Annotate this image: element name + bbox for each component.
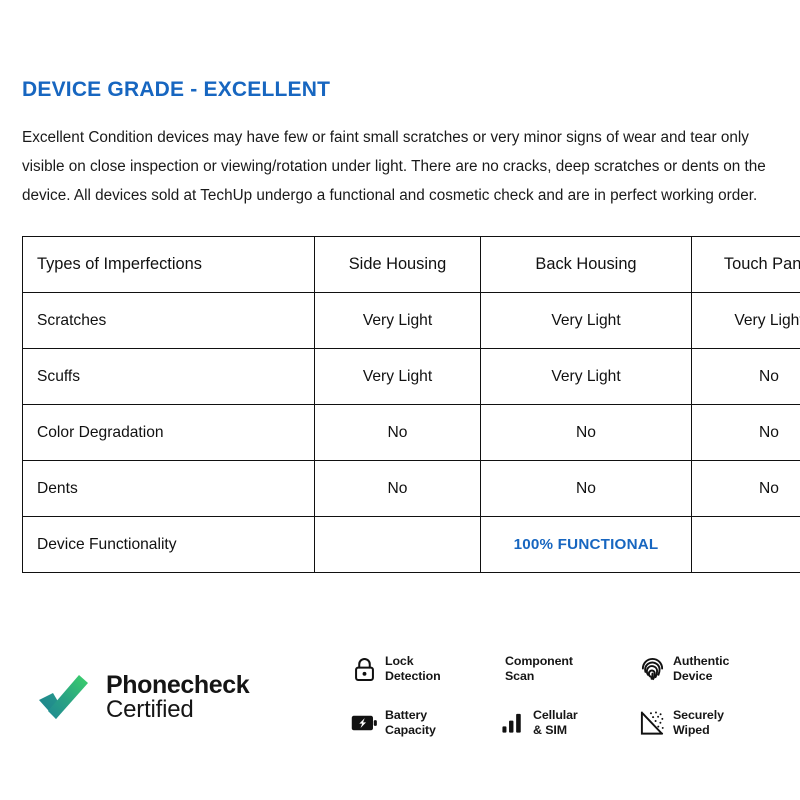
cell-functionality-touch-panel	[692, 517, 800, 573]
cell-scratches-touch-panel: Very Light	[692, 293, 800, 349]
cell-color-degradation-side-housing: No	[315, 405, 481, 461]
logo-name-line1: Phonecheck	[106, 672, 249, 698]
cell-scuffs-touch-panel: No	[692, 349, 800, 405]
cell-scuffs-side-housing: Very Light	[315, 349, 481, 405]
device-grade-page: DEVICE GRADE - EXCELLENT Excellent Condi…	[0, 0, 800, 800]
imperfections-table: Types of Imperfections Side Housing Back…	[22, 236, 800, 573]
checkmark-icon	[32, 666, 94, 728]
badge-label: Battery Capacity	[385, 708, 436, 738]
badge-authentic-device: Authentic Device	[638, 642, 774, 696]
table-header-row: Types of Imperfections Side Housing Back…	[23, 237, 800, 293]
cell-color-degradation-back-housing: No	[481, 405, 692, 461]
table-row: Color Degradation No No No	[23, 405, 800, 461]
badge-lock-detection: Lock Detection	[350, 642, 498, 696]
cell-scratches-back-housing: Very Light	[481, 293, 692, 349]
grade-description: Excellent Condition devices may have few…	[22, 101, 778, 210]
cell-scratches-side-housing: Very Light	[315, 293, 481, 349]
logo-wordmark: Phonecheck Certified	[106, 672, 249, 723]
header-side-housing: Side Housing	[315, 237, 481, 293]
badge-label: Securely Wiped	[673, 708, 724, 738]
row-label-device-functionality: Device Functionality	[23, 517, 315, 573]
cell-dents-side-housing: No	[315, 461, 481, 517]
lock-icon	[350, 654, 378, 684]
row-label-color-degradation: Color Degradation	[23, 405, 315, 461]
badge-battery-capacity: Battery Capacity	[350, 696, 498, 750]
badge-label: Cellular & SIM	[533, 708, 578, 738]
badge-label: Component Scan	[505, 654, 573, 684]
cell-functionality-side-housing	[315, 517, 481, 573]
table-row: Scratches Very Light Very Light Very Lig…	[23, 293, 800, 349]
phonecheck-certified-logo: Phonecheck Certified	[32, 666, 249, 728]
footer: Phonecheck Certified Lock Detection Comp…	[22, 638, 778, 778]
row-label-scratches: Scratches	[23, 293, 315, 349]
row-label-dents: Dents	[23, 461, 315, 517]
signal-bars-icon	[498, 708, 526, 738]
table-row: Scuffs Very Light Very Light No	[23, 349, 800, 405]
badge-securely-wiped: Securely Wiped	[638, 696, 774, 750]
cell-dents-back-housing: No	[481, 461, 692, 517]
header-touch-panel: Touch Panel	[692, 237, 800, 293]
cell-color-degradation-touch-panel: No	[692, 405, 800, 461]
badge-cellular-sim: Cellular & SIM	[498, 696, 638, 750]
cell-dents-touch-panel: No	[692, 461, 800, 517]
header-types-of-imperfections: Types of Imperfections	[23, 237, 315, 293]
page-title: DEVICE GRADE - EXCELLENT	[22, 0, 778, 101]
table-row-functionality: Device Functionality 100% FUNCTIONAL	[23, 517, 800, 573]
fingerprint-icon	[638, 654, 666, 684]
logo-name-line2: Certified	[106, 698, 249, 723]
cell-scuffs-back-housing: Very Light	[481, 349, 692, 405]
battery-icon	[350, 708, 378, 738]
badge-label: Authentic Device	[673, 654, 729, 684]
table-row: Dents No No No	[23, 461, 800, 517]
certification-badges: Lock Detection Component Scan	[350, 642, 774, 750]
badge-component-scan: Component Scan	[498, 642, 638, 696]
status-badge: 100% FUNCTIONAL	[514, 536, 659, 553]
badge-label: Lock Detection	[385, 654, 441, 684]
header-back-housing: Back Housing	[481, 237, 692, 293]
securely-wiped-icon	[638, 708, 666, 738]
cell-functionality-back-housing: 100% FUNCTIONAL	[481, 517, 692, 573]
row-label-scuffs: Scuffs	[23, 349, 315, 405]
